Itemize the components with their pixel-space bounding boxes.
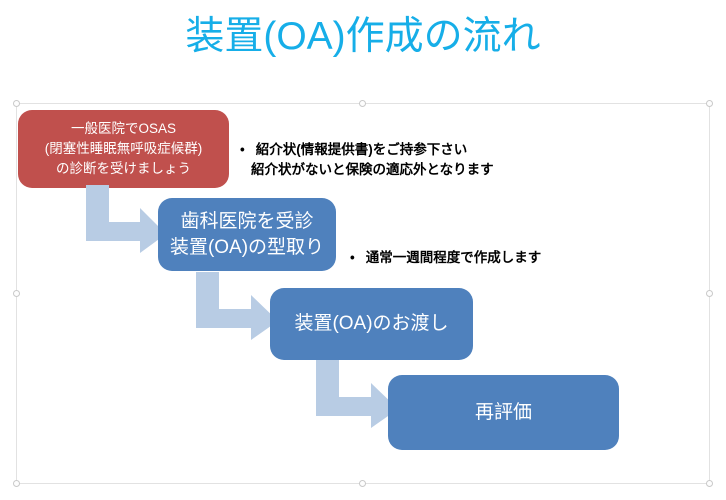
flow-step-3-label: 装置(OA)のお渡し [270, 311, 473, 337]
elbow-arrow-icon-1 [78, 185, 166, 253]
note-bullet-2: •通常一週間程度で作成します [350, 228, 600, 268]
resize-handle-top-right[interactable] [706, 100, 713, 107]
flow-step-1-label: 一般医院でOSAS (閉塞性睡眠無呼吸症候群) の診断を受けましょう [18, 119, 229, 179]
flow-step-4-label: 再評価 [388, 400, 619, 426]
flow-step-2-label: 歯科医院を受診 装置(OA)の型取り [158, 209, 336, 261]
elbow-arrow-icon-2 [188, 272, 278, 340]
note-bullet-1-line-2: 紹介状がないと保険の適応外となります [240, 160, 560, 180]
note-bullet-2-marker: • [350, 250, 355, 265]
resize-handle-top-left[interactable] [13, 100, 20, 107]
flow-step-3-box[interactable]: 装置(OA)のお渡し [270, 288, 473, 360]
flow-step-4-box[interactable]: 再評価 [388, 375, 619, 450]
resize-handle-bottom-left[interactable] [13, 480, 20, 487]
note-bullet-1-line-1: 紹介状(情報提供書)をご持参下さい [256, 142, 468, 157]
resize-handle-top-center[interactable] [359, 100, 366, 107]
page-title: 装置(OA)作成の流れ [0, 12, 726, 62]
resize-handle-bottom-center[interactable] [359, 480, 366, 487]
slide-canvas: 装置(OA)作成の流れ 一般医院でOSAS (閉塞性睡眠無呼吸症候群) の診断を… [0, 0, 726, 500]
resize-handle-bottom-right[interactable] [706, 480, 713, 487]
flow-step-1-box[interactable]: 一般医院でOSAS (閉塞性睡眠無呼吸症候群) の診断を受けましょう [18, 110, 229, 188]
note-bullet-2-line-1: 通常一週間程度で作成します [366, 250, 542, 265]
note-bullet-1: •紹介状(情報提供書)をご持参下さい 紹介状がないと保険の適応外となります [240, 120, 560, 200]
resize-handle-middle-left[interactable] [13, 290, 20, 297]
note-bullet-1-marker: • [240, 142, 245, 157]
flow-step-2-box[interactable]: 歯科医院を受診 装置(OA)の型取り [158, 198, 336, 271]
elbow-arrow-icon-3 [308, 360, 398, 428]
resize-handle-middle-right[interactable] [706, 290, 713, 297]
